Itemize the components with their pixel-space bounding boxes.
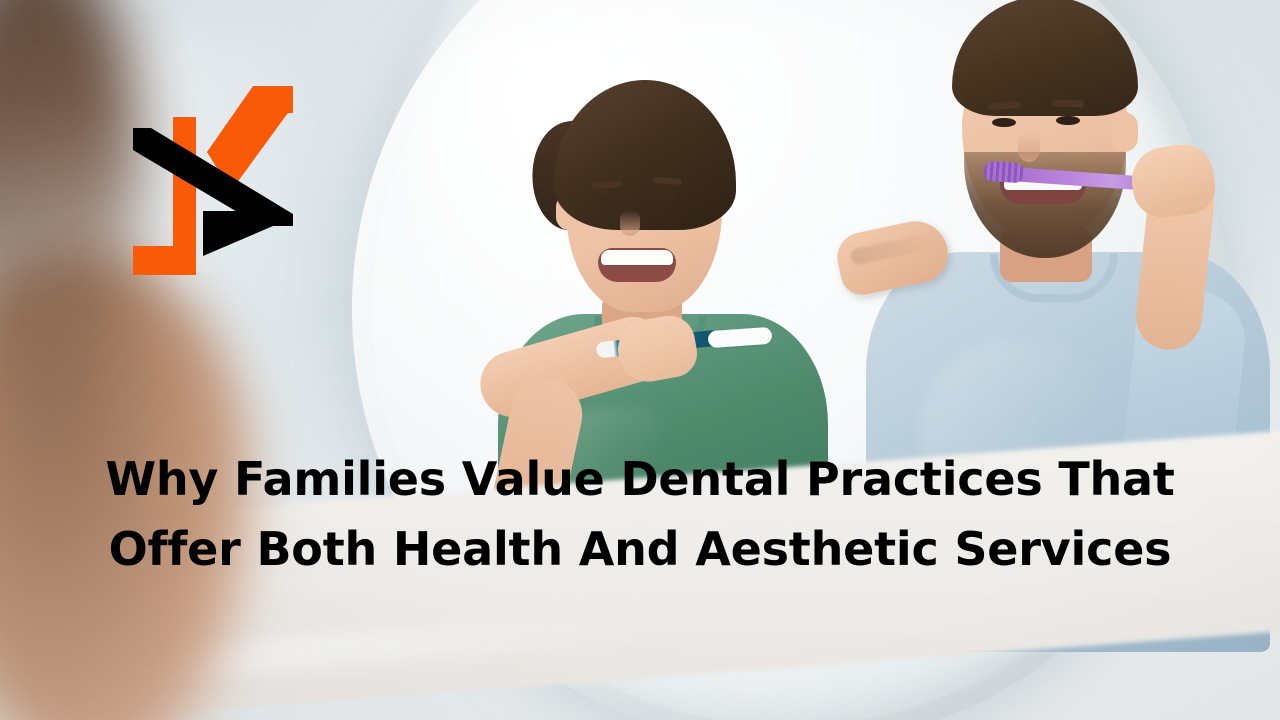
man-hair xyxy=(952,0,1138,116)
page-title: Why Families Value Dental Practices That… xyxy=(0,445,1280,585)
brand-logo[interactable] xyxy=(133,86,293,291)
boy-hair xyxy=(554,80,736,230)
man-eyebrow-right xyxy=(1052,99,1084,107)
boy-eye-right xyxy=(656,192,678,201)
man-eye-right xyxy=(1056,116,1080,125)
boy-teeth xyxy=(601,250,673,265)
boy-nose xyxy=(620,210,640,236)
boy-mouth xyxy=(598,248,676,282)
logo-orange-foot xyxy=(133,246,196,275)
brand-logo-icon xyxy=(133,86,293,291)
man-nose xyxy=(1018,132,1040,162)
purple-toothbrush-head xyxy=(983,161,1024,184)
man-ear xyxy=(1112,112,1138,152)
boy-eye-left xyxy=(596,196,618,205)
man-eye-left xyxy=(992,118,1016,127)
article-hero-banner: Why Families Value Dental Practices That… xyxy=(0,0,1280,720)
